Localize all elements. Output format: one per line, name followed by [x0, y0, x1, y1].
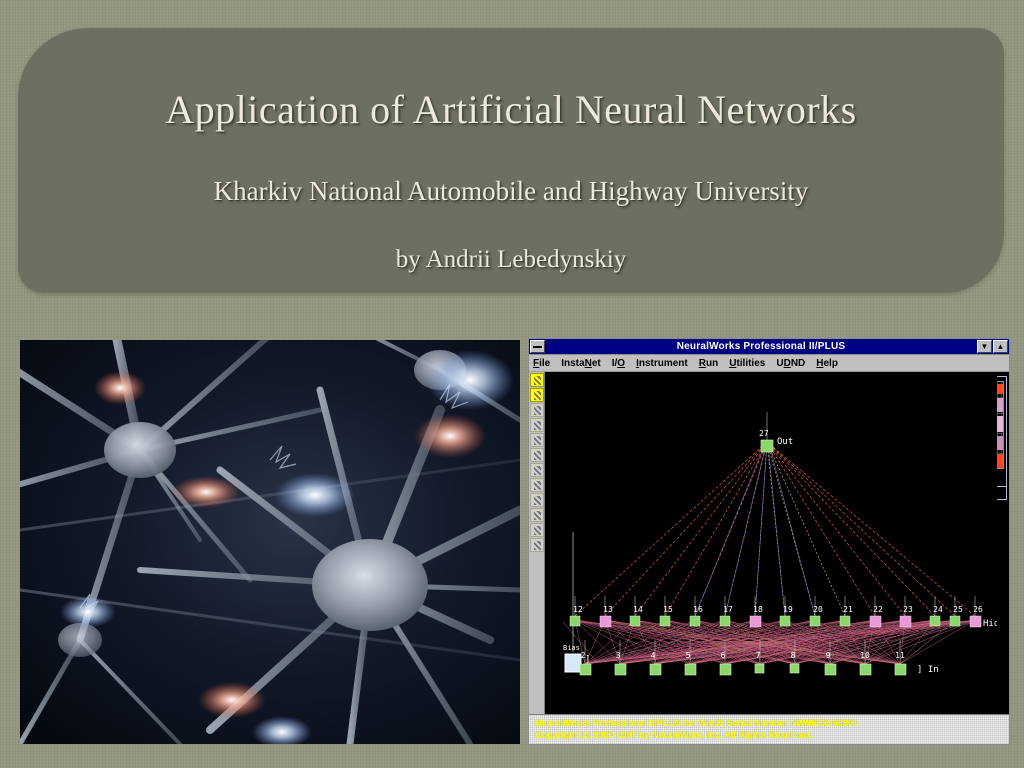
svg-text:7: 7 — [756, 651, 761, 660]
svg-text:8: 8 — [791, 651, 796, 660]
menu-help[interactable]: Help — [816, 358, 838, 369]
hinton-tool-icon[interactable] — [530, 508, 544, 522]
svg-text:] In: ] In — [917, 665, 939, 675]
neuron-illustration — [20, 340, 520, 744]
maximize-icon[interactable]: ▲ — [993, 340, 1008, 353]
page-subtitle: Kharkiv National Automobile and Highway … — [18, 176, 1004, 207]
status-strip: NeuralWorks Professional II/PLUS for Win… — [529, 714, 1009, 744]
svg-text:Hidden: Hidden — [983, 619, 997, 629]
svg-text:18: 18 — [753, 605, 763, 614]
instrument-toolbar[interactable] — [529, 372, 545, 714]
svg-text:9: 9 — [826, 651, 831, 660]
svg-text:19: 19 — [783, 605, 793, 614]
svg-text:Bias: Bias — [563, 644, 580, 652]
svg-text:27: 27 — [759, 429, 769, 438]
weight-tool-icon[interactable] — [530, 478, 544, 492]
select-tool-icon[interactable] — [530, 373, 544, 387]
svg-text:5: 5 — [686, 651, 691, 660]
network-diagram-svg: Bias ] — [545, 372, 997, 714]
svg-text:20: 20 — [813, 605, 823, 614]
svg-text:13: 13 — [603, 605, 613, 614]
svg-text:23: 23 — [903, 605, 913, 614]
matrix-tool-icon[interactable] — [530, 523, 544, 537]
svg-text:11: 11 — [895, 651, 905, 660]
menu-io[interactable]: I/O — [612, 358, 625, 369]
svg-text:4: 4 — [651, 651, 656, 660]
menu-run[interactable]: Run — [699, 358, 718, 369]
svg-text:15: 15 — [663, 605, 673, 614]
window-titlebar: NeuralWorks Professional II/PLUS ▼ ▲ — [529, 339, 1009, 355]
svg-text:24: 24 — [933, 605, 943, 614]
page-author: by Andrii Lebedynskiy — [18, 246, 1004, 274]
window-workarea: 0.2 0 RMS Error 0.0698 1 0 — [529, 372, 1009, 714]
graph-tool-icon[interactable] — [530, 493, 544, 507]
window-controls: ▼ ▲ — [977, 340, 1008, 353]
svg-text:16: 16 — [693, 605, 703, 614]
menu-utilities[interactable]: Utilities — [729, 358, 765, 369]
connect-tool-icon[interactable] — [530, 403, 544, 417]
status-line-copyright: Copyright (c) 1987-1997 by NeuralWare, I… — [535, 729, 1005, 741]
menu-instrument[interactable]: Instrument — [636, 358, 688, 369]
svg-text:25: 25 — [953, 605, 963, 614]
svg-text:17: 17 — [723, 605, 733, 614]
svg-text:]: ] — [585, 655, 590, 665]
menu-udnd[interactable]: UDND — [776, 358, 805, 369]
network-canvas[interactable]: 0.2 0 RMS Error 0.0698 1 0 — [545, 372, 1009, 714]
svg-text:2: 2 — [581, 651, 586, 660]
layer-tool-icon[interactable] — [530, 418, 544, 432]
recall-tool-icon[interactable] — [530, 463, 544, 477]
window-title: NeuralWorks Professional II/PLUS — [545, 341, 977, 352]
svg-text:12: 12 — [573, 605, 583, 614]
menu-instanet[interactable]: InstaNet — [561, 358, 600, 369]
neuralworks-window[interactable]: NeuralWorks Professional II/PLUS ▼ ▲ Fil… — [528, 338, 1010, 745]
noise-tool-icon[interactable] — [530, 433, 544, 447]
network-diagram[interactable]: Bias ] — [545, 372, 1009, 714]
svg-text:3: 3 — [616, 651, 621, 660]
menu-file[interactable]: File — [533, 358, 550, 369]
menubar[interactable]: File InstaNet I/O Instrument Run Utiliti… — [529, 355, 1009, 372]
minimize-icon[interactable]: ▼ — [977, 340, 992, 353]
slide-title-card: Application of Artificial Neural Network… — [18, 28, 1004, 293]
page-title: Application of Artificial Neural Network… — [18, 86, 1004, 133]
svg-text:Out: Out — [777, 437, 793, 447]
learn-tool-icon[interactable] — [530, 448, 544, 462]
neuron-graphic — [20, 340, 520, 744]
io-tool-icon[interactable] — [530, 538, 544, 552]
svg-text:22: 22 — [873, 605, 883, 614]
system-menu-icon[interactable] — [530, 340, 545, 353]
svg-text:26: 26 — [973, 605, 983, 614]
status-line-product: NeuralWorks Professional II/PLUS for Win… — [535, 717, 1005, 729]
svg-text:6: 6 — [721, 651, 726, 660]
probe-tool-icon[interactable] — [530, 388, 544, 402]
svg-text:10: 10 — [860, 651, 870, 660]
svg-text:21: 21 — [843, 605, 853, 614]
svg-text:14: 14 — [633, 605, 643, 614]
